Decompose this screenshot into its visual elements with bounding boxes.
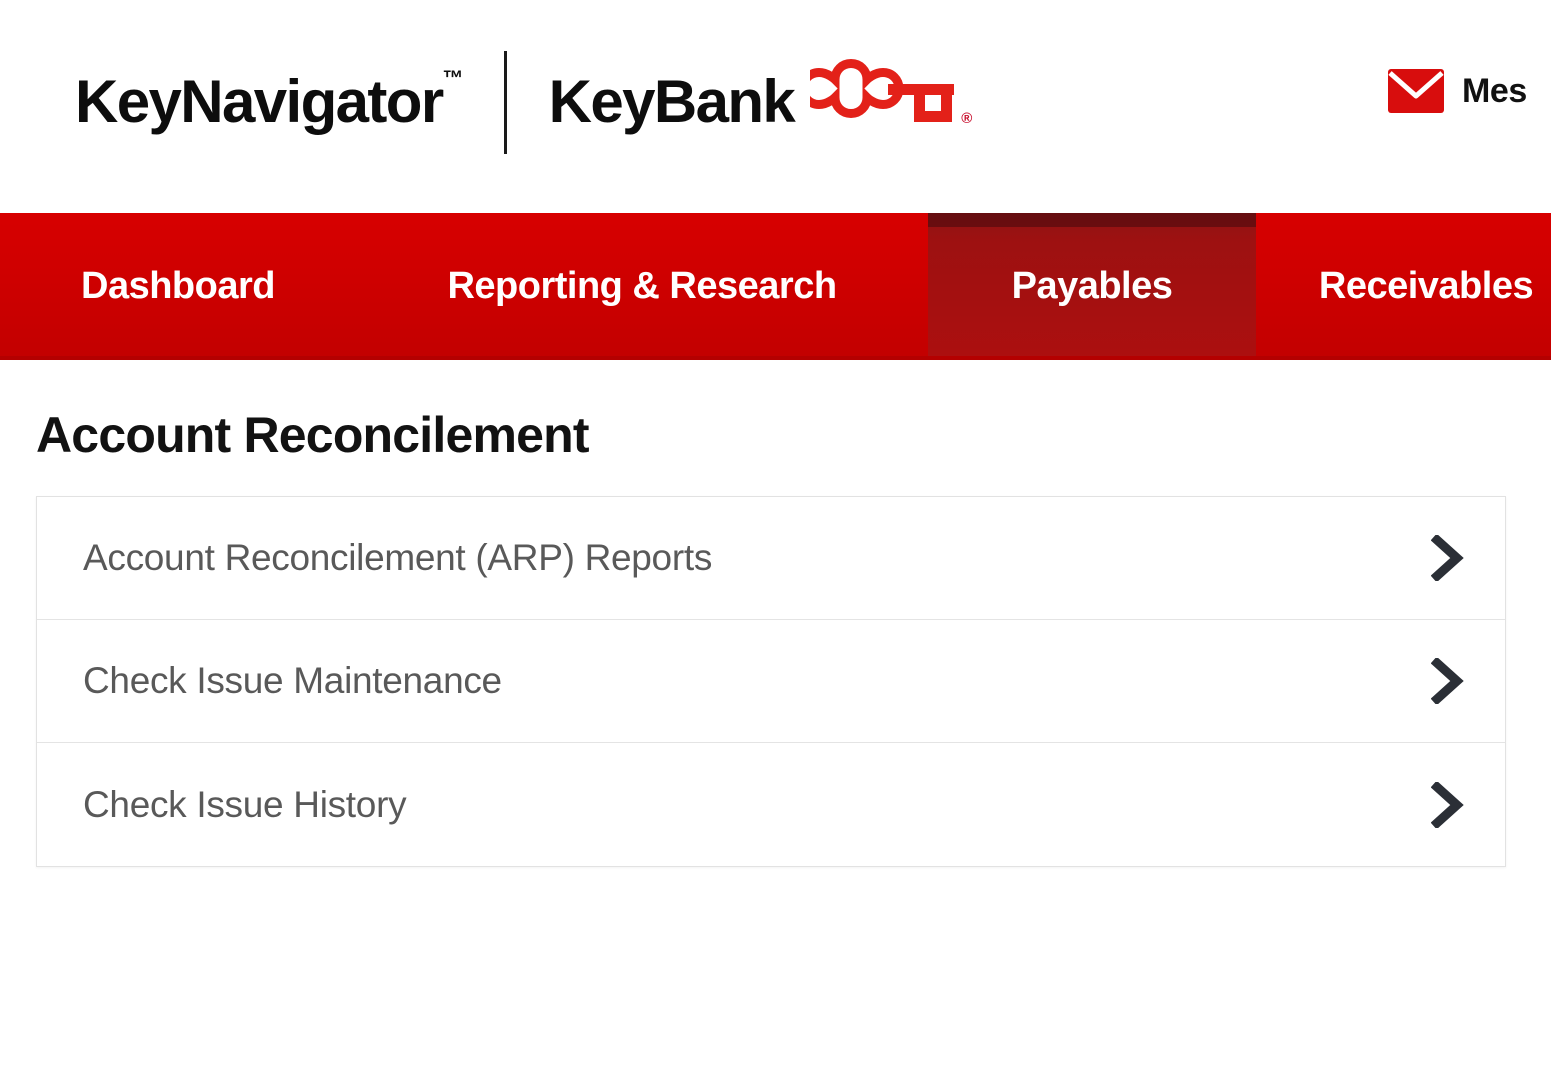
brand-keynavigator: KeyNavigator™ <box>75 72 464 132</box>
account-reconcilement-menu-panel: Account Reconcilement (ARP) Reports Chec… <box>36 496 1506 867</box>
nav-tab-dashboard-label: Dashboard <box>81 265 275 308</box>
envelope-icon[interactable] <box>1388 69 1444 113</box>
brand-keybank-text: KeyBank <box>549 72 795 132</box>
nav-tab-receivables[interactable]: Receivables <box>1256 213 1551 360</box>
messages-button[interactable]: Mes <box>1388 63 1527 119</box>
brand-keynavigator-text: KeyNavigator <box>75 68 443 135</box>
nav-tab-payables-label: Payables <box>1012 265 1173 308</box>
main-content: Account Reconcilement Account Reconcilem… <box>0 360 1551 1087</box>
nav-tab-reporting-research[interactable]: Reporting & Research <box>356 213 928 360</box>
chevron-right-icon[interactable] <box>1431 535 1465 581</box>
nav-tab-dashboard[interactable]: Dashboard <box>0 213 356 360</box>
key-icon <box>810 55 960 142</box>
list-item-check-issue-maintenance-label: Check Issue Maintenance <box>83 660 502 702</box>
list-item-check-issue-history-label: Check Issue History <box>83 784 406 826</box>
nav-tab-receivables-label: Receivables <box>1319 265 1533 308</box>
brand-lockup[interactable]: KeyNavigator™ KeyBank ® <box>75 52 971 152</box>
brand-divider <box>504 51 507 154</box>
messages-label: Mes <box>1462 72 1527 111</box>
trademark-icon: ™ <box>443 67 464 90</box>
list-item-check-issue-maintenance[interactable]: Check Issue Maintenance <box>37 620 1505 743</box>
chevron-right-icon[interactable] <box>1431 782 1465 828</box>
nav-tab-payables[interactable]: Payables <box>928 213 1256 360</box>
page-header: KeyNavigator™ KeyBank ® <box>0 0 1551 213</box>
chevron-right-icon[interactable] <box>1431 658 1465 704</box>
list-item-arp-reports-label: Account Reconcilement (ARP) Reports <box>83 537 712 579</box>
list-item-check-issue-history[interactable]: Check Issue History <box>37 743 1505 866</box>
page-title: Account Reconcilement <box>36 406 589 464</box>
nav-tab-reporting-research-label: Reporting & Research <box>447 265 836 308</box>
registered-mark-icon: ® <box>961 110 972 127</box>
list-item-arp-reports[interactable]: Account Reconcilement (ARP) Reports <box>37 497 1505 620</box>
main-navigation: Dashboard Reporting & Research Payables … <box>0 213 1551 360</box>
